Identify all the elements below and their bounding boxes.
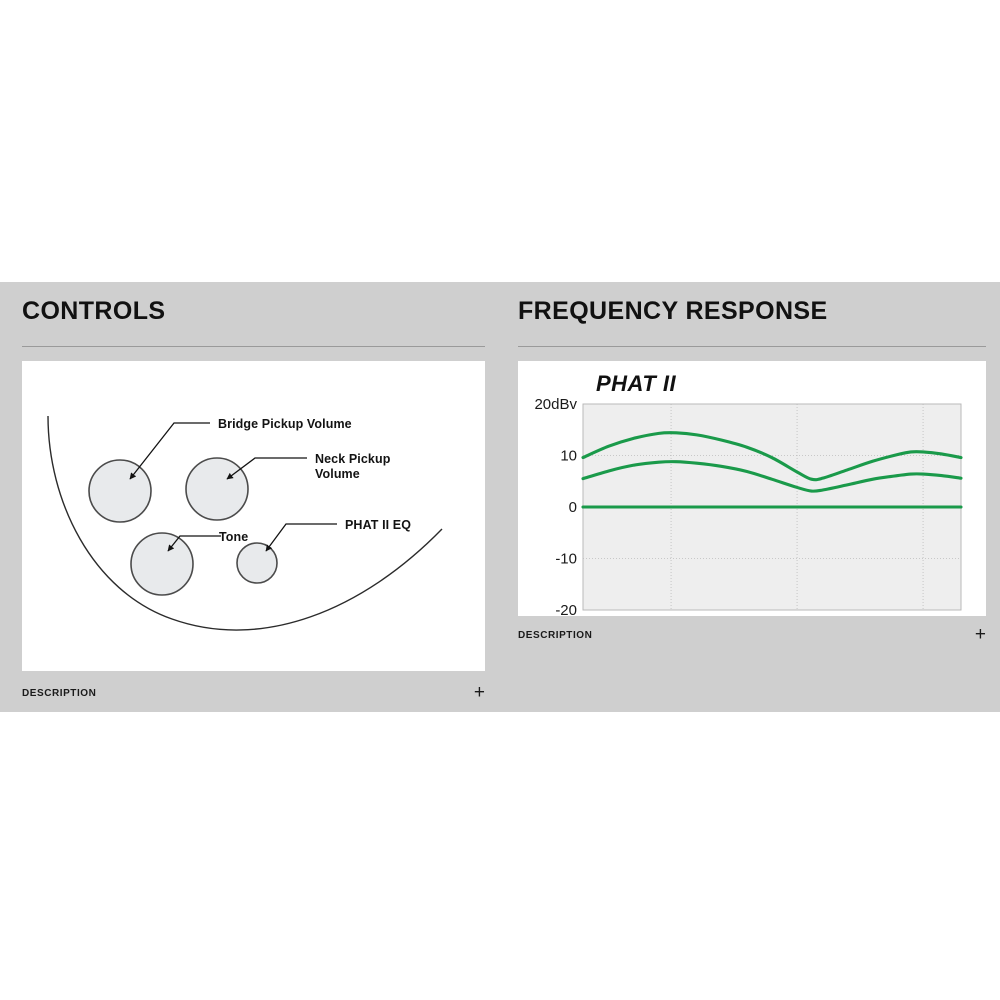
tone-knob[interactable]: [131, 533, 193, 595]
y-tick-label: 10: [560, 447, 577, 464]
frequency-response-panel: FREQUENCY RESPONSE 20dBv100-10-20 201001…: [500, 282, 1000, 712]
phat-ii-eq-leader: [266, 524, 337, 551]
controls-diagram-container: Bridge Pickup Volume Neck Pickup Volume …: [22, 361, 485, 671]
product-spec-band: CONTROLS Bridge Pickup Volu: [0, 282, 1000, 712]
bridge-pickup-volume-label: Bridge Pickup Volume: [218, 417, 352, 431]
x-tick-label: 1k: [789, 615, 805, 616]
x-tick-label: 20kHz: [938, 615, 981, 616]
frequency-response-chart-container: 20dBv100-10-20 201001k10k20kHz PHAT II: [518, 361, 986, 616]
frequency-description-row[interactable]: DESCRIPTION +: [518, 628, 986, 642]
chart-title: PHAT II: [596, 371, 676, 396]
guitar-control-layout-diagram: Bridge Pickup Volume Neck Pickup Volume …: [22, 361, 485, 671]
frequency-response-panel-title: FREQUENCY RESPONSE: [518, 282, 986, 326]
phat-ii-eq-label: PHAT II EQ: [345, 518, 411, 532]
frequency-response-panel-divider: [518, 346, 986, 347]
frequency-description-expand-icon[interactable]: +: [975, 628, 986, 642]
neck-pickup-volume-label-line1: Neck Pickup: [315, 452, 391, 466]
x-tick-label: 100: [659, 615, 684, 616]
chart-x-axis-labels: 201001k10k20kHz: [575, 615, 981, 616]
phat-ii-eq-knob[interactable]: [237, 543, 277, 583]
controls-description-label: DESCRIPTION: [22, 688, 96, 699]
y-tick-label: -10: [555, 550, 577, 567]
controls-description-expand-icon[interactable]: +: [474, 686, 485, 700]
x-tick-label: 10k: [911, 615, 936, 616]
frequency-response-chart: 20dBv100-10-20 201001k10k20kHz PHAT II: [518, 361, 986, 616]
frequency-description-label: DESCRIPTION: [518, 630, 592, 641]
y-tick-label: 0: [569, 499, 577, 516]
neck-pickup-volume-label-line2: Volume: [315, 467, 360, 481]
chart-y-axis-labels: 20dBv100-10-20: [534, 396, 577, 616]
x-tick-label: 20: [575, 615, 592, 616]
y-tick-label: 20dBv: [534, 396, 577, 413]
bridge-pickup-volume-knob[interactable]: [89, 460, 151, 522]
controls-panel-divider: [22, 346, 485, 347]
y-tick-label: -20: [555, 602, 577, 616]
tone-label: Tone: [219, 530, 248, 544]
controls-panel: CONTROLS Bridge Pickup Volu: [0, 282, 500, 712]
neck-pickup-volume-knob[interactable]: [186, 458, 248, 520]
controls-panel-title: CONTROLS: [22, 282, 485, 326]
controls-description-row[interactable]: DESCRIPTION +: [22, 686, 485, 700]
